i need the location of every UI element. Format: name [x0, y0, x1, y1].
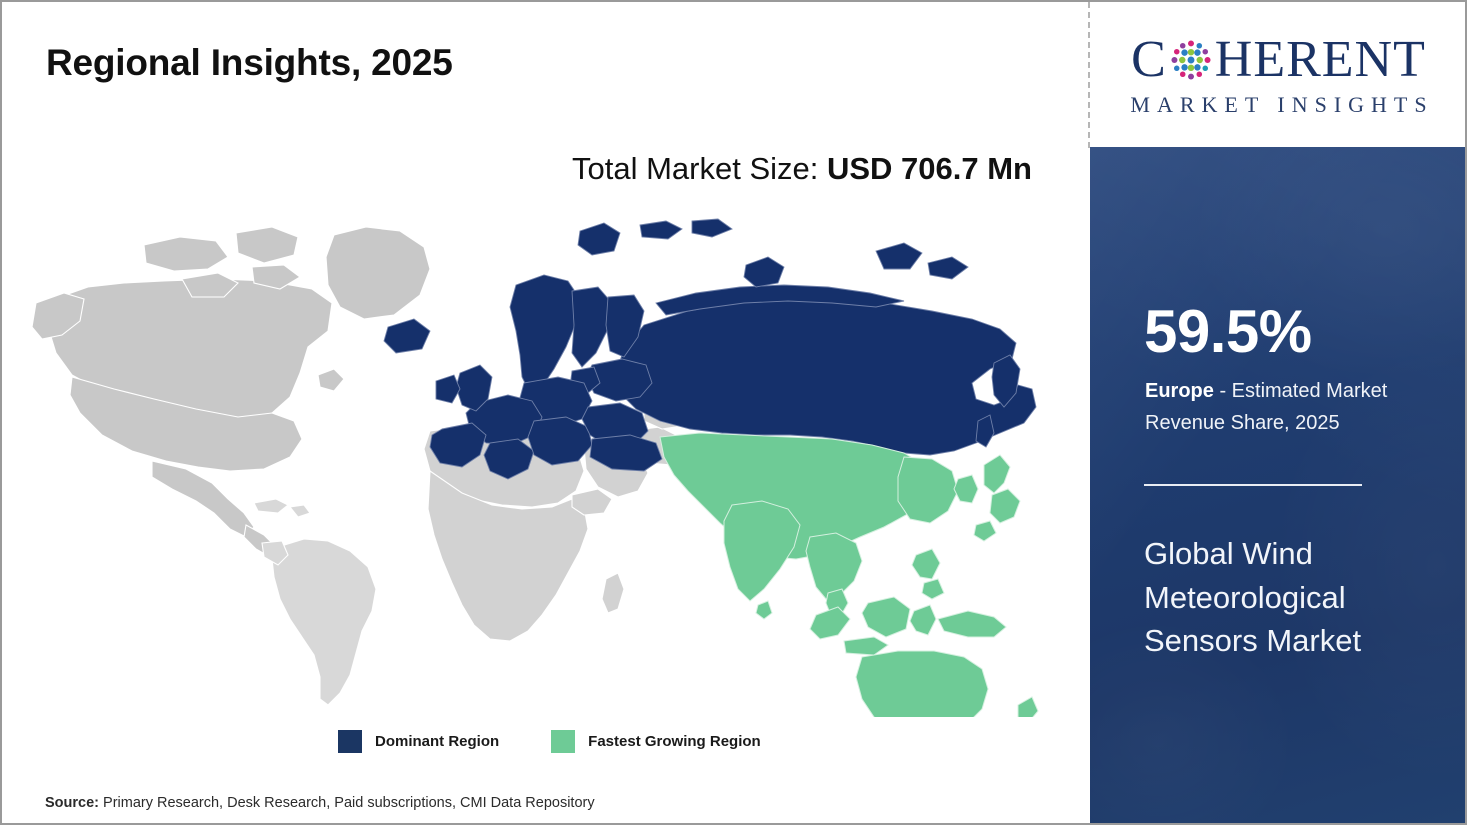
logo-wordmark: C [1131, 32, 1426, 88]
legend-item-fastest-growing: Fastest Growing Region [551, 730, 761, 753]
share-percentage: 59.5% [1144, 302, 1312, 362]
left-content-panel: Regional Insights, 2025 Total Market Siz… [2, 2, 1090, 823]
market-name: Global Wind Meteorological Sensors Marke… [1144, 532, 1449, 663]
world-map [32, 207, 1052, 717]
regional-insights-infographic: Regional Insights, 2025 Total Market Siz… [0, 0, 1467, 825]
share-description: Europe - Estimated Market Revenue Share,… [1145, 375, 1455, 440]
legend-label-fastest-growing: Fastest Growing Region [588, 733, 761, 750]
market-size-label: Total Market Size: [572, 151, 827, 186]
total-market-size: Total Market Size: USD 706.7 Mn [572, 147, 1042, 191]
page-title: Regional Insights, 2025 [46, 42, 453, 84]
legend-swatch-fastest-growing [551, 730, 575, 753]
logo-word-after: HERENT [1215, 34, 1426, 86]
logo-subtitle: MARKET INSIGHTS [1123, 92, 1433, 118]
market-size-value: USD 706.7 Mn [827, 151, 1032, 186]
source-text: Primary Research, Desk Research, Paid su… [99, 795, 595, 811]
logo-word-before: C [1131, 34, 1167, 86]
region-name: Europe [1145, 380, 1214, 402]
legend-item-dominant: Dominant Region [338, 730, 499, 753]
map-neutral-regions [32, 227, 430, 557]
map-legend: Dominant Region Fastest Growing Region [338, 730, 761, 753]
company-logo[interactable]: C [1090, 2, 1467, 147]
regional-highlight-panel: 59.5% Europe - Estimated Market Revenue … [1090, 147, 1467, 823]
panel-divider-rule [1144, 484, 1362, 486]
legend-swatch-dominant [338, 730, 362, 753]
source-label: Source: [45, 795, 99, 811]
source-line: Source: Primary Research, Desk Research,… [45, 795, 595, 811]
legend-label-dominant: Dominant Region [375, 733, 499, 750]
map-neutral-regions-south [254, 499, 376, 705]
globe-dots-icon [1168, 37, 1214, 83]
map-fastest-growing-region-asia-pacific[interactable] [660, 433, 1046, 717]
world-map-svg [32, 207, 1052, 717]
